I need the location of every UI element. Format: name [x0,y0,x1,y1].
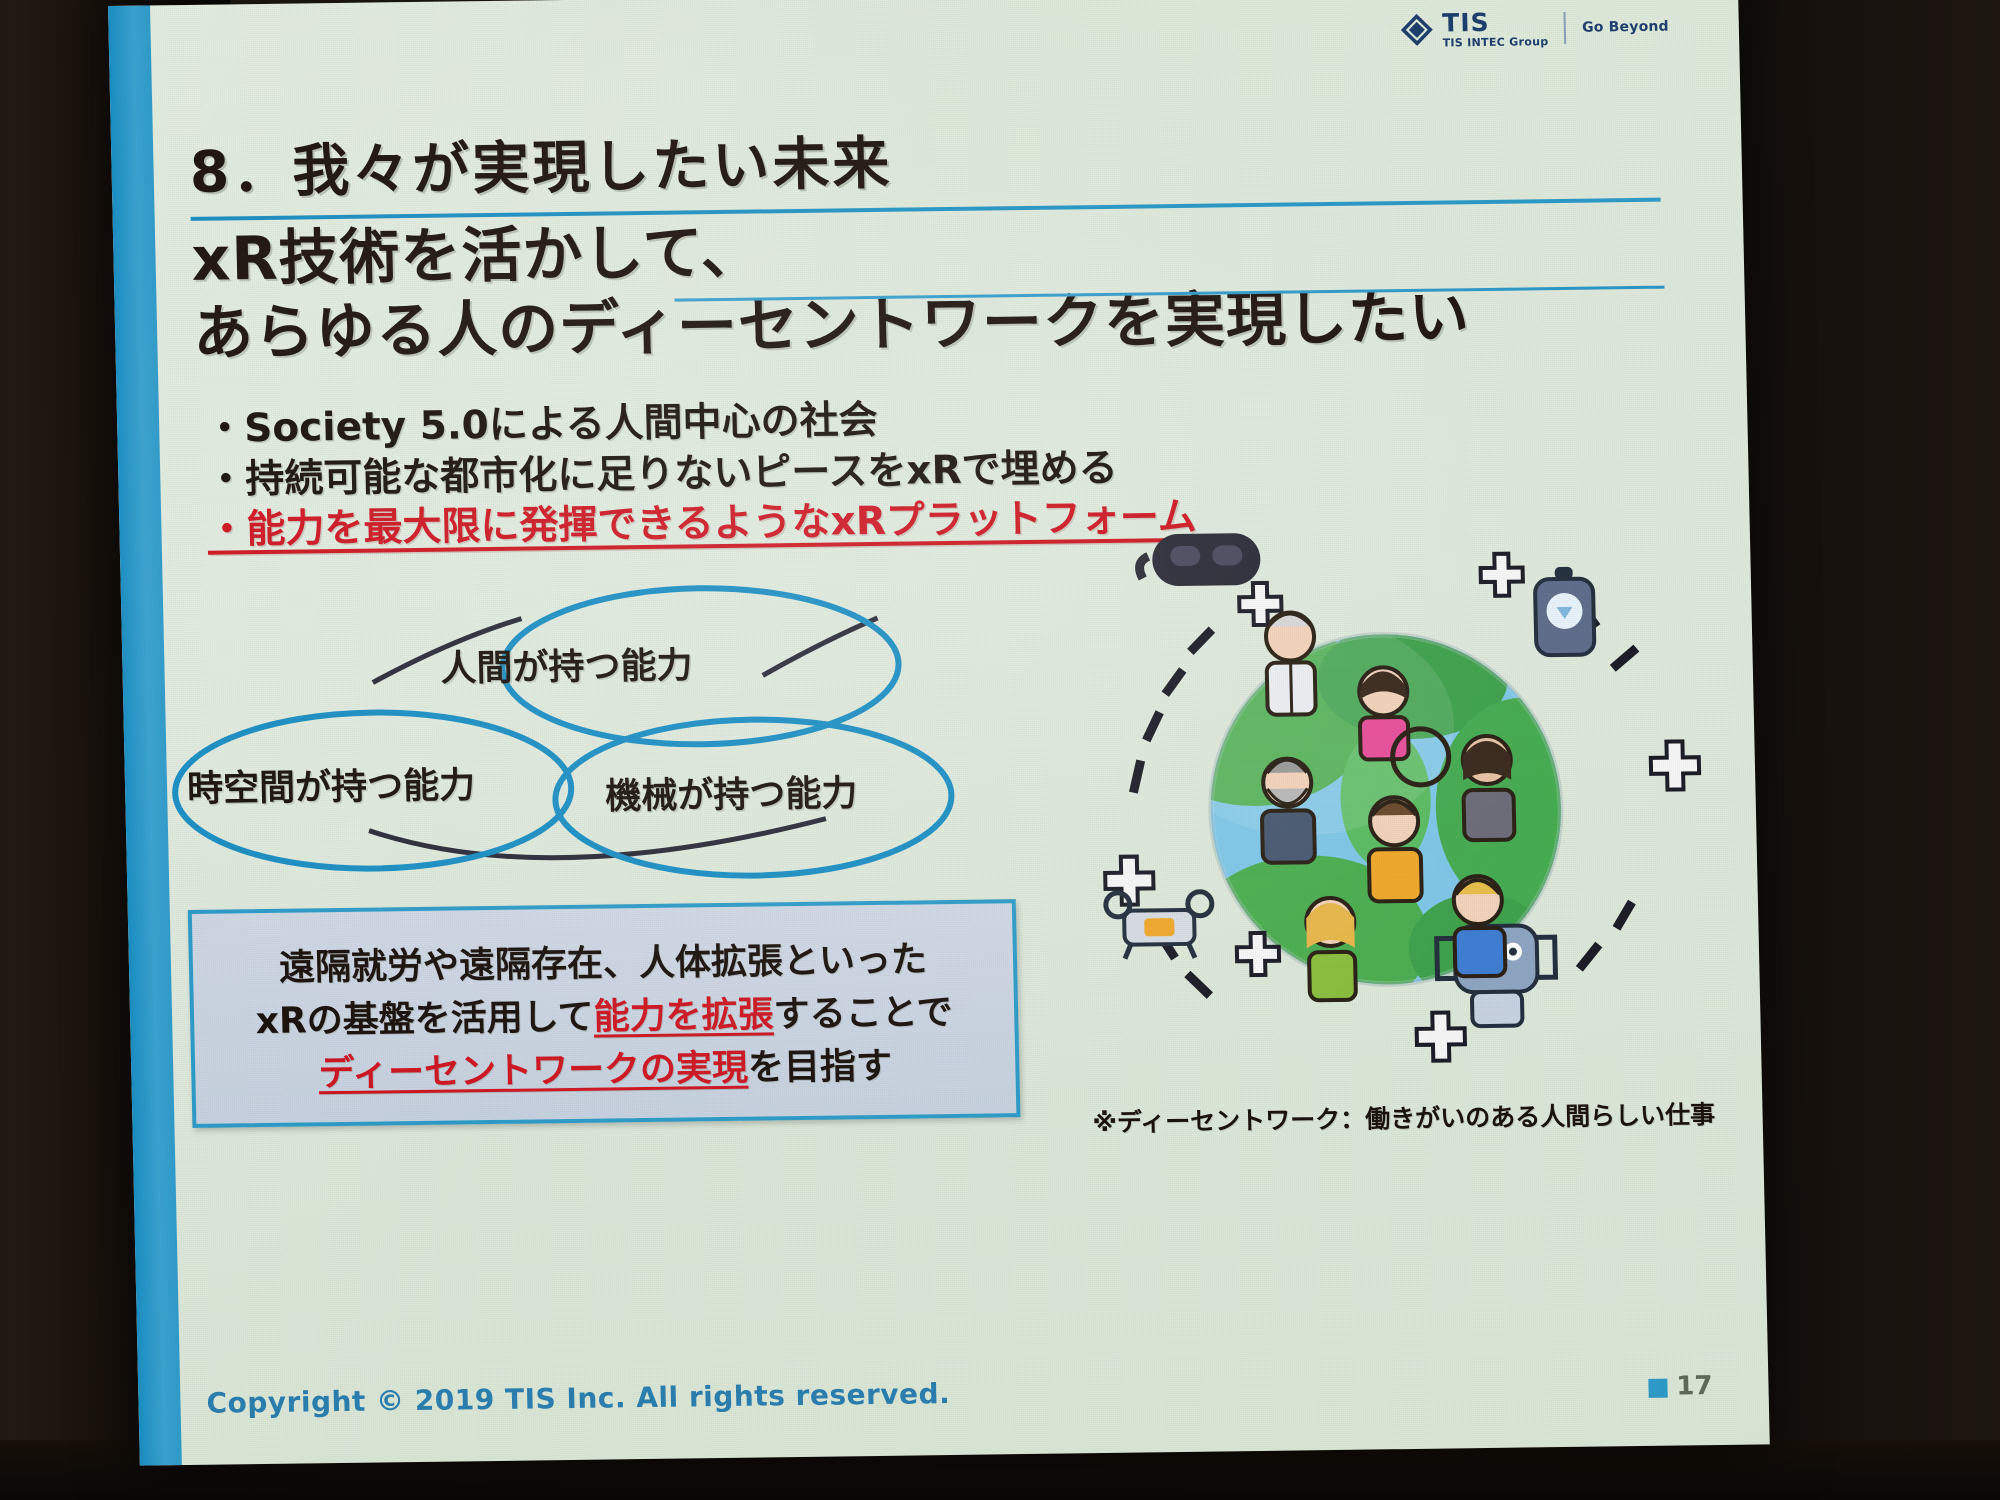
copyright-text: Copyright © 2019 TIS Inc. All rights res… [206,1377,950,1420]
callout-line2-a: xRの基盤を活用して [255,997,594,1042]
page-title: 8．我々が実現したい未来 [189,108,1671,209]
callout-line2-c: することで [773,992,953,1035]
tis-logo: TIS TIS INTEC Group Go Beyond [1399,8,1669,50]
venn-label-human: 人間が持つ能力 [440,636,693,691]
callout-line-3: ディーセントワークの実現を目指す [195,1035,1016,1098]
logo-divider [1564,12,1567,44]
callout-line-1: 遠隔就労や遠隔存在、人体拡張といった [192,929,1013,992]
venn-label-machine: 機械が持つ能力 [605,764,858,819]
tis-diamond-icon [1399,13,1434,47]
presentation-slide: 8．我々が実現したい未来 TIS TIS INTEC Group Go Beyo… [108,0,1770,1466]
tis-wordmark: TIS TIS INTEC Group [1442,9,1549,48]
global-workforce-illustration [1049,505,1722,1103]
page-marker-icon [1648,1379,1667,1398]
page-number-group: 17 [1648,1371,1713,1402]
tis-tagline: Go Beyond [1582,19,1669,36]
robot-avatar-icon [1535,567,1595,656]
tis-name: TIS [1442,9,1548,35]
footnote: ※ディーセントワーク：働きがいのある人間らしい仕事 [1092,1095,1733,1139]
projected-slide-wrapper: 8．我々が実現したい未来 TIS TIS INTEC Group Go Beyo… [108,0,1780,1486]
slide-header: 8．我々が実現したい未来 [189,108,1671,209]
summary-callout-box: 遠隔就労や遠隔存在、人体拡張といった xRの基盤を活用して能力を拡張することで … [188,899,1021,1128]
capability-venn-diagram: 人間が持つ能力 時空間が持つ能力 機械が持つ能力 [120,554,1007,895]
callout-line-2: xRの基盤を活用して能力を拡張することで [194,982,1015,1045]
page-number: 17 [1676,1371,1713,1401]
tis-subtitle: TIS INTEC Group [1443,36,1549,48]
callout-line2-highlight: 能力を拡張 [593,994,774,1037]
projector-photo: 8．我々が実現したい未来 TIS TIS INTEC Group Go Beyo… [0,0,2000,1500]
callout-line3-highlight: ディーセントワークの実現 [318,1048,748,1095]
callout-line3-b: を目指す [748,1046,893,1089]
venn-label-spacetime: 時空間が持つ能力 [186,756,475,812]
vr-headset-icon [1139,533,1261,587]
